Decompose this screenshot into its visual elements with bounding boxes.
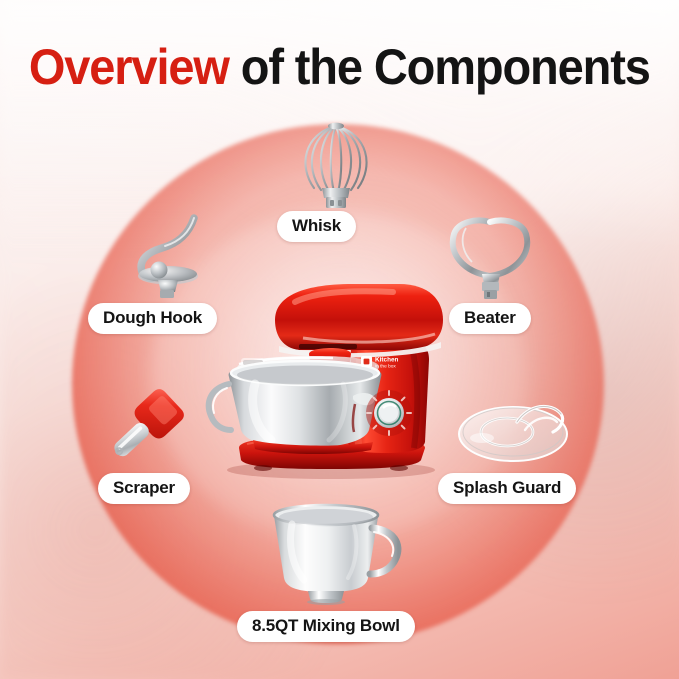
infographic-canvas: Overview of the Components <box>0 0 679 679</box>
page-title: Overview of the Components <box>0 38 679 96</box>
whisk-icon <box>288 118 384 210</box>
splash-guard-icon <box>455 388 573 466</box>
stand-mixer: Kitchen in the box <box>203 272 453 482</box>
callout-label-whisk: Whisk <box>277 211 356 242</box>
dough-hook-icon <box>118 214 216 302</box>
callout-label-splash-guard: Splash Guard <box>438 473 576 504</box>
title-highlight: Overview <box>29 39 229 95</box>
scraper-icon <box>96 384 192 472</box>
callout-label-scraper: Scraper <box>98 473 190 504</box>
callout-label-beater: Beater <box>449 303 531 334</box>
title-rest: of the Components <box>229 39 650 95</box>
mixing-bowl-icon <box>262 492 412 604</box>
svg-text:Kitchen: Kitchen <box>375 357 399 364</box>
svg-text:in the box: in the box <box>375 363 396 369</box>
callout-label-mixing-bowl: 8.5QT Mixing Bowl <box>237 611 415 642</box>
callout-label-dough-hook: Dough Hook <box>88 303 217 334</box>
